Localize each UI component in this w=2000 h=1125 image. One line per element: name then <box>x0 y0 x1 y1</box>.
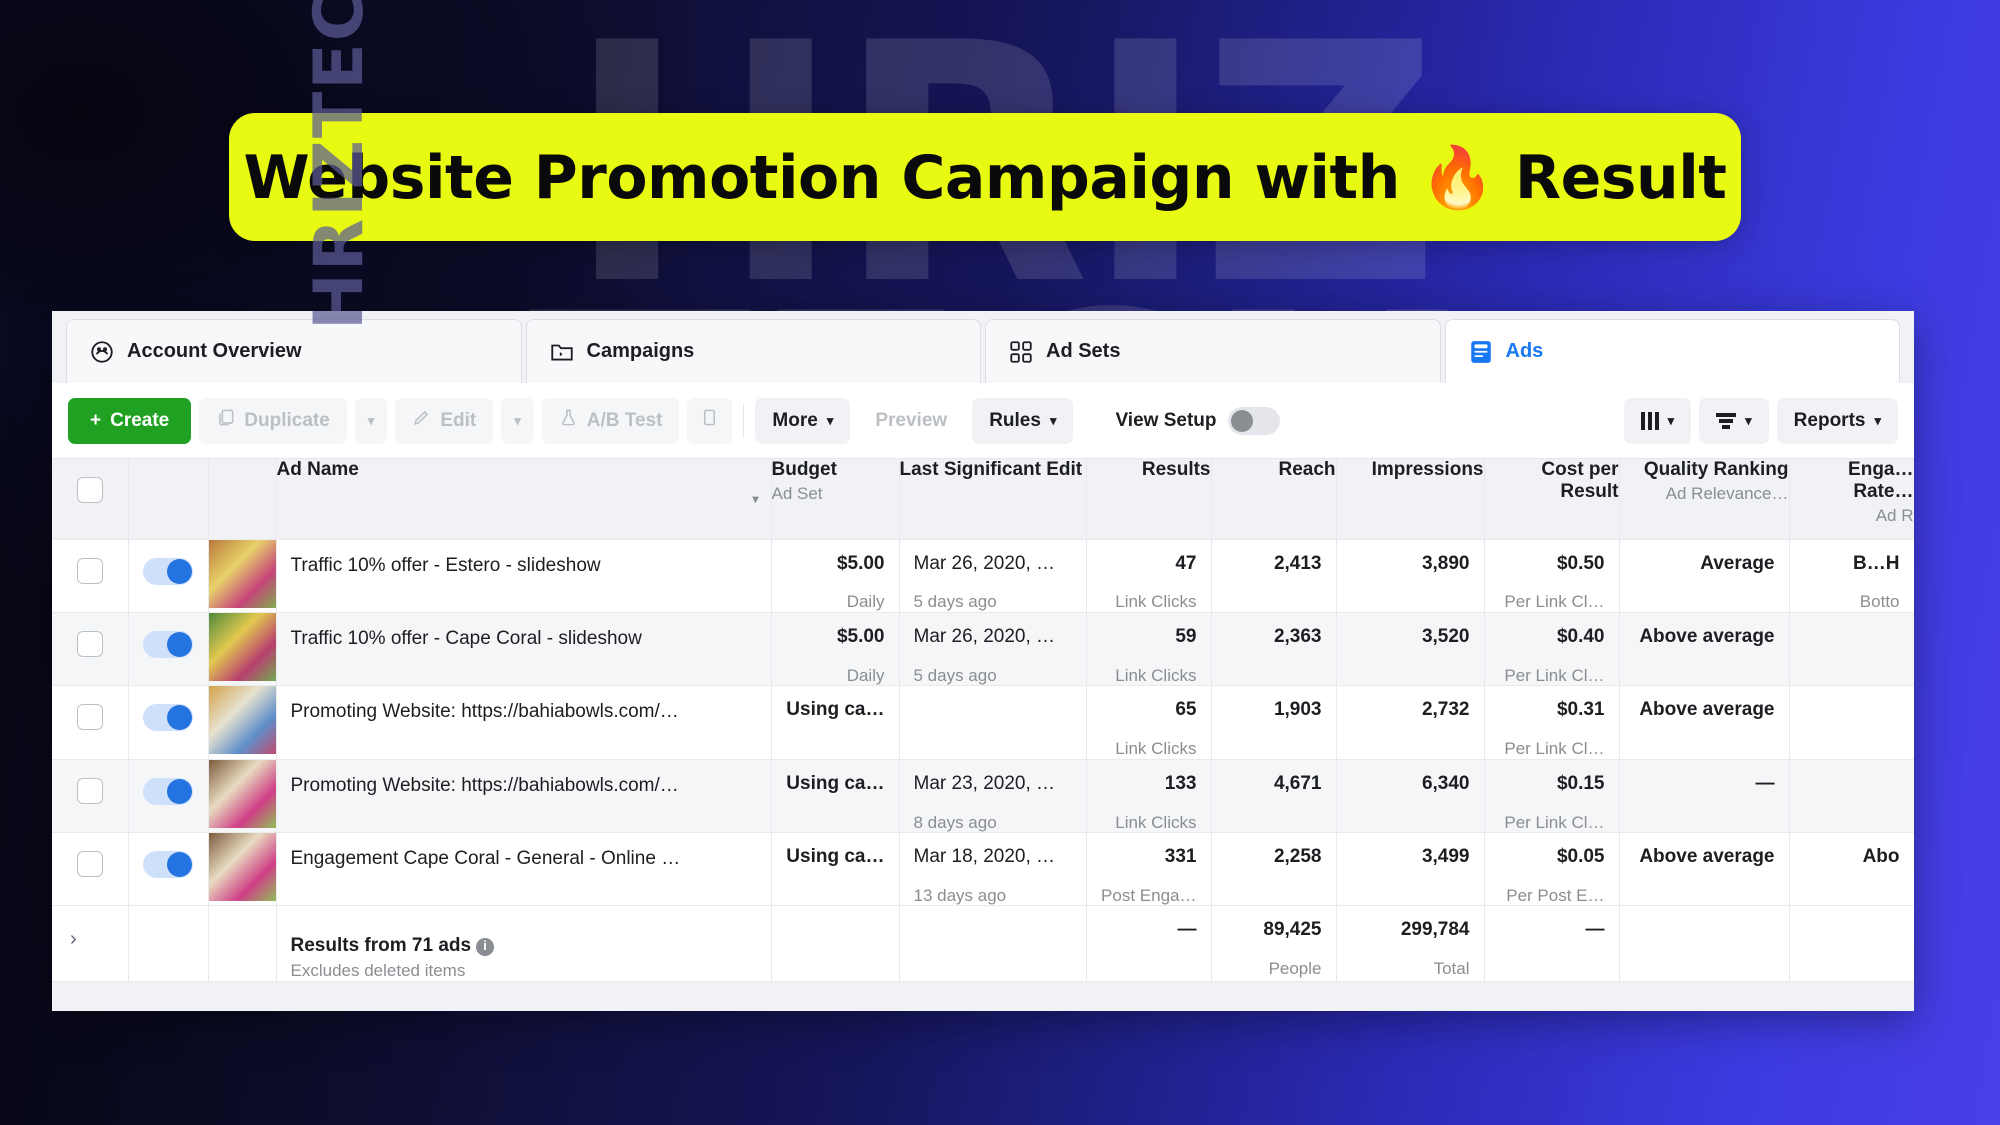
more-button-label: More <box>772 410 817 432</box>
plus-icon: + <box>90 410 101 432</box>
results-sub: Link Clicks <box>1087 653 1211 686</box>
results-value: 47 <box>1087 540 1211 575</box>
status-toggle[interactable] <box>143 778 193 805</box>
row-impressions-cell: 6,340 <box>1336 759 1484 832</box>
chevron-down-icon: ▾ <box>1745 414 1752 427</box>
tab-bar: Account Overview Campaigns Ad Sets Ads <box>52 311 1914 383</box>
results-sub: Link Clicks <box>1087 800 1211 833</box>
row-select-cell[interactable] <box>52 686 128 759</box>
ad-thumbnail <box>209 833 277 901</box>
footer-toggle-cell <box>128 906 208 981</box>
col-reach[interactable]: Reach <box>1211 459 1336 539</box>
edit-dropdown-button[interactable]: ▾ <box>501 398 534 444</box>
footer-summary-cell: Results from 71 adsi Excludes deleted it… <box>276 906 771 981</box>
ad-thumbnail <box>209 686 277 754</box>
ad-name: Promoting Website: https://bahiabowls.co… <box>291 699 679 723</box>
engagement-sub: Botto <box>1790 579 1914 612</box>
col-engagement-rate-ranking[interactable]: Enga… Rate… Ad R <box>1789 459 1914 539</box>
ad-thumbnail <box>209 760 277 828</box>
lastedit-value: Mar 26, 2020, … <box>900 613 1086 648</box>
duplicate-button[interactable]: Duplicate <box>199 398 347 444</box>
row-thumb-cell <box>208 612 276 685</box>
budget-value: $5.00 <box>772 540 899 575</box>
title-banner: Website Promotion Campaign with 🔥 Result <box>229 113 1741 241</box>
results-sub: Link Clicks <box>1087 579 1211 612</box>
chevron-down-icon: ▾ <box>1668 414 1675 427</box>
more-button[interactable]: More ▾ <box>755 398 850 444</box>
row-status-cell[interactable] <box>128 759 208 832</box>
reach-value: 2,363 <box>1212 613 1336 648</box>
ad-thumbnail <box>209 613 277 681</box>
duplicate-dropdown-button[interactable]: ▾ <box>355 398 388 444</box>
budget-sub <box>772 873 899 886</box>
chevron-down-icon: ▾ <box>368 414 375 427</box>
totals-impressions: 299,784 <box>1337 906 1484 941</box>
tab-label: Campaigns <box>587 340 695 363</box>
engagement-sub <box>1790 704 1914 717</box>
engagement-value <box>1790 613 1914 626</box>
row-reach-cell: 4,671 <box>1211 759 1336 832</box>
table-body: Traffic 10% offer - Estero - slideshow $… <box>52 539 1914 906</box>
cpr-sub: Per Link Cl… <box>1485 579 1619 612</box>
row-results-cell: 65 Link Clicks <box>1086 686 1211 759</box>
ad-thumbnail <box>209 540 277 608</box>
row-impressions-cell: 2,732 <box>1336 686 1484 759</box>
quality-value: — <box>1620 760 1789 795</box>
row-reach-cell: 2,258 <box>1211 833 1336 906</box>
totals-results: — <box>1087 906 1211 941</box>
row-cpr-cell: $0.31 Per Link Cl… <box>1484 686 1619 759</box>
row-budget-cell: $5.00 Daily <box>771 612 899 685</box>
tab-account-overview[interactable]: Account Overview <box>66 319 522 383</box>
budget-value: Using ca… <box>772 760 899 795</box>
tab-label: Ads <box>1506 340 1544 363</box>
table-footer: › Results from 71 adsi Excludes deleted … <box>52 906 1914 981</box>
table-row[interactable]: Engagement Cape Coral - General - Online… <box>52 833 1914 906</box>
row-quality-cell: Average <box>1619 539 1789 612</box>
row-checkbox[interactable] <box>77 851 103 877</box>
col-last-significant-edit[interactable]: Last Significant Edit <box>899 459 1086 539</box>
budget-value: Using ca… <box>772 686 899 721</box>
lastedit-value <box>900 686 1086 699</box>
cpr-value: $0.50 <box>1485 540 1619 575</box>
expand-chevron-icon[interactable]: › <box>52 906 128 951</box>
lastedit-sub: 5 days ago <box>900 653 1086 686</box>
table-row[interactable]: Promoting Website: https://bahiabowls.co… <box>52 686 1914 759</box>
preview-button-label: Preview <box>875 410 947 432</box>
engagement-sub <box>1790 631 1914 644</box>
totals-subtitle: Excludes deleted items <box>291 961 757 981</box>
rules-button[interactable]: Rules ▾ <box>972 398 1073 444</box>
budget-sub <box>772 726 899 739</box>
edit-button-label: Edit <box>440 410 476 432</box>
results-value: 331 <box>1087 833 1211 868</box>
footer-impressions-cell: 299,784 Total <box>1336 906 1484 981</box>
chevron-down-icon: ▾ <box>1874 414 1881 427</box>
totals-impressions-sub: Total <box>1337 946 1484 979</box>
col-label: Quality Ranking <box>1644 459 1789 480</box>
col-ad-name[interactable]: Ad Name ▾ <box>276 459 771 539</box>
quality-value: Average <box>1620 540 1789 575</box>
clipboard-icon <box>700 408 719 433</box>
row-results-cell: 331 Post Enga… <box>1086 833 1211 906</box>
results-value: 65 <box>1087 686 1211 721</box>
row-budget-cell: Using ca… <box>771 833 899 906</box>
budget-value: Using ca… <box>772 833 899 868</box>
row-engagement-cell: B…H Botto <box>1789 539 1914 612</box>
totals-row: › Results from 71 adsi Excludes deleted … <box>52 906 1914 981</box>
engagement-sub <box>1790 778 1914 791</box>
cpr-sub: Per Link Cl… <box>1485 653 1619 686</box>
lastedit-sub: 8 days ago <box>900 800 1086 833</box>
footer-quality-cell <box>1619 906 1789 981</box>
impressions-value: 3,499 <box>1337 833 1484 868</box>
row-cpr-cell: $0.40 Per Link Cl… <box>1484 612 1619 685</box>
col-label: Results <box>1142 459 1211 480</box>
col-sublabel: Ad R <box>1790 506 1914 526</box>
row-name-cell[interactable]: Traffic 10% offer - Estero - slideshow <box>276 539 771 612</box>
row-impressions-cell: 3,499 <box>1336 833 1484 906</box>
create-button[interactable]: + Create <box>68 398 191 444</box>
status-toggle[interactable] <box>143 631 193 658</box>
page-title: Website Promotion Campaign with 🔥 Result <box>244 142 1727 213</box>
create-button-label: Create <box>110 410 169 432</box>
select-all-checkbox[interactable] <box>77 477 103 503</box>
budget-sub: Daily <box>772 653 899 686</box>
tab-ads[interactable]: Ads <box>1445 319 1901 383</box>
col-label: Reach <box>1278 459 1335 480</box>
row-results-cell: 47 Link Clicks <box>1086 539 1211 612</box>
row-budget-cell: Using ca… <box>771 759 899 832</box>
row-status-cell[interactable] <box>128 539 208 612</box>
ad-name: Traffic 10% offer - Cape Coral - slidesh… <box>291 626 642 650</box>
impressions-value: 6,340 <box>1337 760 1484 795</box>
row-lastedit-cell: Mar 18, 2020, … 13 days ago <box>899 833 1086 906</box>
chevron-down-icon: ▾ <box>1050 414 1057 427</box>
row-thumb-cell <box>208 833 276 906</box>
preview-button[interactable]: Preview <box>858 398 964 444</box>
row-budget-cell: Using ca… <box>771 686 899 759</box>
row-engagement-cell <box>1789 759 1914 832</box>
footer-thumb-cell <box>208 906 276 981</box>
row-quality-cell: Above average <box>1619 686 1789 759</box>
chevron-down-icon: ▾ <box>514 414 521 427</box>
col-sublabel: Ad Relevance… <box>1620 484 1789 504</box>
ad-name: Traffic 10% offer - Estero - slideshow <box>291 553 601 577</box>
engagement-sub <box>1790 873 1914 886</box>
copy-button[interactable] <box>687 398 732 444</box>
cpr-value: $0.05 <box>1485 833 1619 868</box>
row-thumb-cell <box>208 539 276 612</box>
quality-value: Above average <box>1620 613 1789 648</box>
row-status-cell[interactable] <box>128 686 208 759</box>
col-label: Enga… Rate… <box>1848 459 1913 502</box>
results-sub: Post Enga… <box>1087 873 1211 906</box>
lastedit-value: Mar 23, 2020, … <box>900 760 1086 795</box>
toolbar-divider <box>743 404 744 438</box>
title-text-after: Result <box>1494 143 1726 213</box>
row-engagement-cell <box>1789 686 1914 759</box>
row-lastedit-cell: Mar 26, 2020, … 5 days ago <box>899 612 1086 685</box>
lastedit-sub: 13 days ago <box>900 873 1086 906</box>
row-select-cell[interactable] <box>52 612 128 685</box>
row-impressions-cell: 3,890 <box>1336 539 1484 612</box>
row-results-cell: 59 Link Clicks <box>1086 612 1211 685</box>
col-sublabel: Ad Set <box>772 484 899 504</box>
footer-cpr-cell: — <box>1484 906 1619 981</box>
ad-name: Engagement Cape Coral - General - Online… <box>291 846 681 870</box>
reach-value: 2,413 <box>1212 540 1336 575</box>
footer-lastedit-cell <box>899 906 1086 981</box>
engagement-value <box>1790 760 1914 773</box>
totals-reach-sub: People <box>1212 946 1336 979</box>
row-reach-cell: 2,413 <box>1211 539 1336 612</box>
duplicate-icon <box>216 408 235 433</box>
lastedit-value: Mar 18, 2020, … <box>900 833 1086 868</box>
row-name-cell[interactable]: Engagement Cape Coral - General - Online… <box>276 833 771 906</box>
col-cost-per-result[interactable]: Cost per Result <box>1484 459 1619 539</box>
impressions-value: 3,520 <box>1337 613 1484 648</box>
col-label: Cost per Result <box>1541 459 1618 502</box>
ads-manager-panel: Account Overview Campaigns Ad Sets Ads +… <box>52 311 1914 1011</box>
quality-value: Above average <box>1620 833 1789 868</box>
row-reach-cell: 1,903 <box>1211 686 1336 759</box>
budget-sub: Daily <box>772 579 899 612</box>
col-label: Ad Name <box>277 459 359 480</box>
campaigns-folder-icon <box>549 339 575 365</box>
quality-value: Above average <box>1620 686 1789 721</box>
row-engagement-cell: Abo <box>1789 833 1914 906</box>
row-quality-cell: — <box>1619 759 1789 832</box>
row-engagement-cell <box>1789 612 1914 685</box>
breakdown-button[interactable]: ▾ <box>1699 398 1769 444</box>
row-results-cell: 133 Link Clicks <box>1086 759 1211 832</box>
columns-button[interactable]: ▾ <box>1624 398 1692 444</box>
duplicate-button-label: Duplicate <box>244 410 330 432</box>
row-checkbox[interactable] <box>77 631 103 657</box>
reach-value: 2,258 <box>1212 833 1336 868</box>
cpr-value: $0.31 <box>1485 686 1619 721</box>
row-select-cell[interactable] <box>52 833 128 906</box>
engagement-value: Abo <box>1790 833 1914 868</box>
ads-table: Ad Name ▾ Budget Ad Set Last Significant… <box>52 459 1914 982</box>
row-lastedit-cell <box>899 686 1086 759</box>
row-cpr-cell: $0.50 Per Link Cl… <box>1484 539 1619 612</box>
view-setup-label: View Setup <box>1115 410 1216 432</box>
impressions-value: 3,890 <box>1337 540 1484 575</box>
fire-icon: 🔥 <box>1420 143 1494 213</box>
lastedit-value: Mar 26, 2020, … <box>900 540 1086 575</box>
tab-ad-sets[interactable]: Ad Sets <box>985 319 1441 383</box>
row-name-cell[interactable]: Promoting Website: https://bahiabowls.co… <box>276 759 771 832</box>
results-sub: Link Clicks <box>1087 726 1211 759</box>
row-lastedit-cell: Mar 26, 2020, … 5 days ago <box>899 539 1086 612</box>
row-select-cell[interactable] <box>52 759 128 832</box>
row-thumb-cell <box>208 759 276 832</box>
totals-title: Results from 71 ads <box>291 935 472 956</box>
engagement-value <box>1790 686 1914 699</box>
chevron-down-icon: ▾ <box>827 414 834 427</box>
row-status-cell[interactable] <box>128 833 208 906</box>
row-checkbox[interactable] <box>77 778 103 804</box>
footer-results-cell: — <box>1086 906 1211 981</box>
footer-engagement-cell <box>1789 906 1914 981</box>
row-checkbox[interactable] <box>77 558 103 584</box>
tab-campaigns[interactable]: Campaigns <box>526 319 982 383</box>
view-setup-switch[interactable] <box>1228 407 1280 435</box>
footer-reach-cell: 89,425 People <box>1211 906 1336 981</box>
row-cpr-cell: $0.15 Per Link Cl… <box>1484 759 1619 832</box>
cpr-sub: Per Link Cl… <box>1485 800 1619 833</box>
table-row[interactable]: Traffic 10% offer - Estero - slideshow $… <box>52 539 1914 612</box>
status-toggle[interactable] <box>143 704 193 731</box>
info-icon[interactable]: i <box>476 938 494 956</box>
reports-button[interactable]: Reports ▾ <box>1777 398 1898 444</box>
lastedit-sub: 5 days ago <box>900 579 1086 612</box>
rules-button-label: Rules <box>989 410 1041 432</box>
row-reach-cell: 2,363 <box>1211 612 1336 685</box>
col-results[interactable]: Results <box>1086 459 1211 539</box>
row-status-cell[interactable] <box>128 612 208 685</box>
ab-test-button-label: A/B Test <box>587 410 663 432</box>
footer-expand-cell[interactable]: › <box>52 906 128 981</box>
toggle-header <box>128 459 208 539</box>
breakdown-funnel-icon <box>1716 413 1736 429</box>
row-select-cell[interactable] <box>52 539 128 612</box>
row-name-cell[interactable]: Traffic 10% offer - Cape Coral - slidesh… <box>276 612 771 685</box>
account-overview-icon <box>89 339 115 365</box>
status-toggle[interactable] <box>143 851 193 878</box>
row-name-cell[interactable]: Promoting Website: https://bahiabowls.co… <box>276 686 771 759</box>
ads-icon <box>1468 339 1494 365</box>
ad-name: Promoting Website: https://bahiabowls.co… <box>291 773 679 797</box>
reports-button-label: Reports <box>1794 410 1866 432</box>
cpr-value: $0.40 <box>1485 613 1619 648</box>
col-quality-ranking[interactable]: Quality Ranking Ad Relevance… <box>1619 459 1789 539</box>
cpr-sub: Per Post E… <box>1485 873 1619 906</box>
row-quality-cell: Above average <box>1619 612 1789 685</box>
results-value: 133 <box>1087 760 1211 795</box>
cpr-value: $0.15 <box>1485 760 1619 795</box>
row-lastedit-cell: Mar 23, 2020, … 8 days ago <box>899 759 1086 832</box>
col-label: Budget <box>772 459 837 480</box>
table-header-row: Ad Name ▾ Budget Ad Set Last Significant… <box>52 459 1914 539</box>
row-checkbox[interactable] <box>77 704 103 730</box>
col-budget[interactable]: Budget Ad Set <box>771 459 899 539</box>
toolbar: + Create Duplicate ▾ Edit ▾ A/B Test <box>52 383 1914 459</box>
ad-sets-grid-icon <box>1008 339 1034 365</box>
view-setup-toggle[interactable]: View Setup <box>1101 407 1294 435</box>
budget-value: $5.00 <box>772 613 899 648</box>
row-cpr-cell: $0.05 Per Post E… <box>1484 833 1619 906</box>
select-all-header[interactable] <box>52 459 128 539</box>
row-impressions-cell: 3,520 <box>1336 612 1484 685</box>
row-thumb-cell <box>208 686 276 759</box>
lastedit-sub <box>900 704 1086 717</box>
thumb-header <box>208 459 276 539</box>
impressions-value: 2,732 <box>1337 686 1484 721</box>
col-label: Impressions <box>1372 459 1484 480</box>
totals-reach: 89,425 <box>1212 906 1336 941</box>
pencil-icon <box>412 408 431 433</box>
table-row[interactable]: Traffic 10% offer - Cape Coral - slidesh… <box>52 612 1914 685</box>
table-row[interactable]: Promoting Website: https://bahiabowls.co… <box>52 759 1914 832</box>
row-quality-cell: Above average <box>1619 833 1789 906</box>
reach-value: 4,671 <box>1212 760 1336 795</box>
budget-sub <box>772 800 899 813</box>
tab-label: Account Overview <box>127 340 302 363</box>
row-budget-cell: $5.00 Daily <box>771 539 899 612</box>
footer-budget-cell <box>771 906 899 981</box>
reach-value: 1,903 <box>1212 686 1336 721</box>
engagement-value: B…H <box>1790 540 1914 575</box>
status-toggle[interactable] <box>143 558 193 585</box>
columns-icon <box>1641 412 1659 430</box>
col-label: Last Significant Edit <box>900 459 1083 480</box>
tab-label: Ad Sets <box>1046 340 1120 363</box>
sort-chevron-icon[interactable]: ▾ <box>752 493 758 507</box>
ab-test-button[interactable]: A/B Test <box>542 398 680 444</box>
edit-button[interactable]: Edit <box>395 398 493 444</box>
totals-cpr: — <box>1485 906 1619 941</box>
cpr-sub: Per Link Cl… <box>1485 726 1619 759</box>
col-impressions[interactable]: Impressions <box>1336 459 1484 539</box>
results-value: 59 <box>1087 613 1211 648</box>
flask-icon <box>559 408 578 433</box>
title-text-before: Website Promotion Campaign with <box>244 143 1421 213</box>
